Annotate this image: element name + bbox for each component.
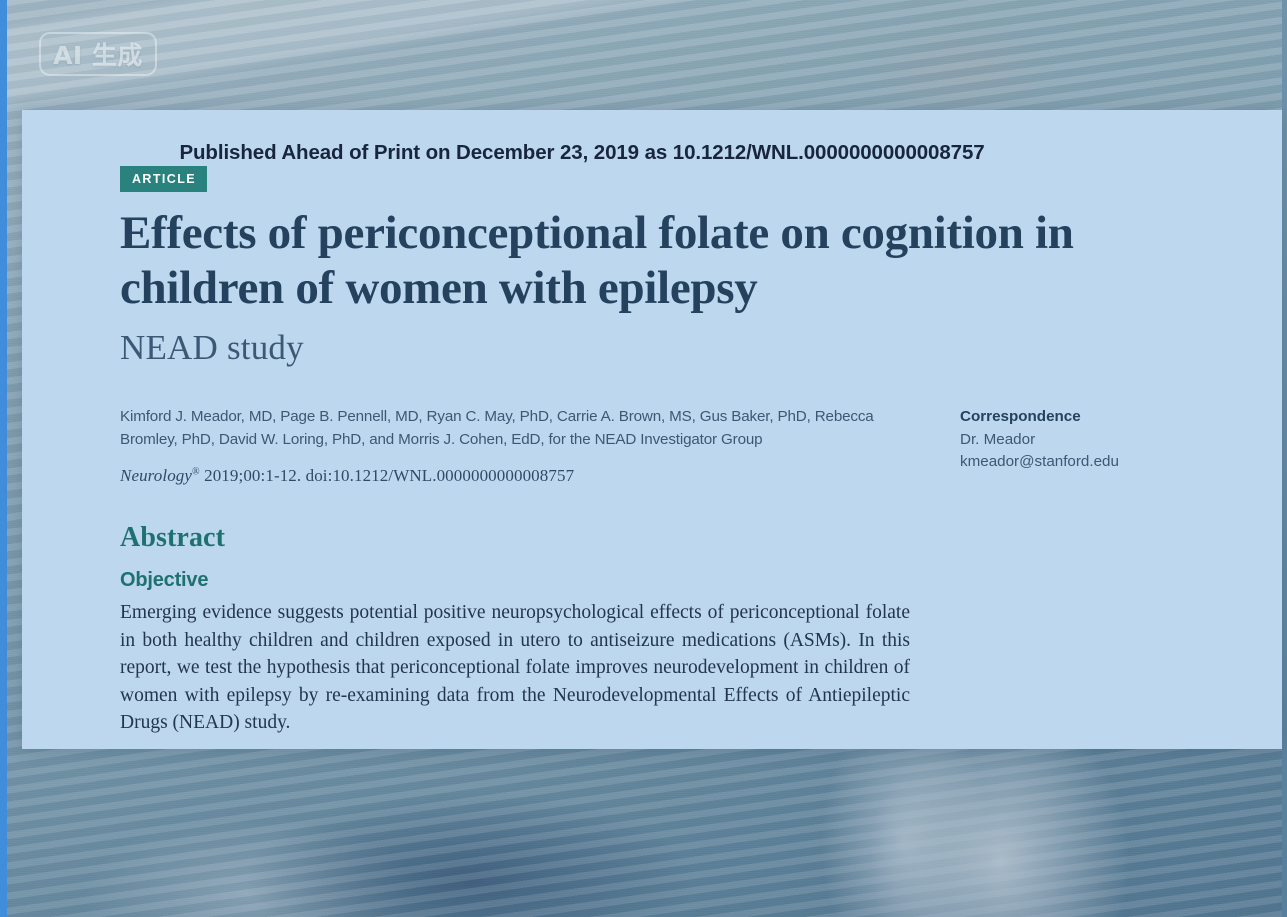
left-edge-accent-strip [0, 0, 7, 917]
right-edge-strip [1282, 0, 1287, 917]
article-type-badge: ARTICLE [120, 166, 207, 192]
citation-line: Neurology® 2019;00:1-12. doi:10.1212/WNL… [120, 466, 574, 486]
ai-generated-watermark: AI 生成 [39, 32, 157, 76]
ai-watermark-label: AI 生成 [53, 36, 143, 72]
correspondence-email[interactable]: kmeador@stanford.edu [960, 451, 1260, 473]
page-title: Effects of periconceptional folate on co… [120, 206, 1205, 316]
abstract-objective-text: Emerging evidence suggests potential pos… [120, 599, 910, 737]
abstract-heading: Abstract [120, 522, 225, 554]
author-list: Kimford J. Meador, MD, Page B. Pennell, … [120, 405, 915, 451]
registered-trademark-icon: ® [192, 466, 200, 477]
correspondence-name: Dr. Meador [960, 429, 1260, 451]
journal-name: Neurology [120, 466, 192, 485]
publication-banner: Published Ahead of Print on December 23,… [22, 141, 1142, 165]
article-subtitle: NEAD study [120, 328, 304, 368]
objective-heading: Objective [120, 569, 208, 592]
citation-details: 2019;00:1-12. doi:10.1212/WNL.0000000000… [200, 466, 574, 485]
correspondence-block: Correspondence Dr. Meador kmeador@stanfo… [960, 406, 1260, 473]
journal-article-panel: Published Ahead of Print on December 23,… [22, 110, 1282, 749]
correspondence-heading: Correspondence [960, 406, 1260, 428]
